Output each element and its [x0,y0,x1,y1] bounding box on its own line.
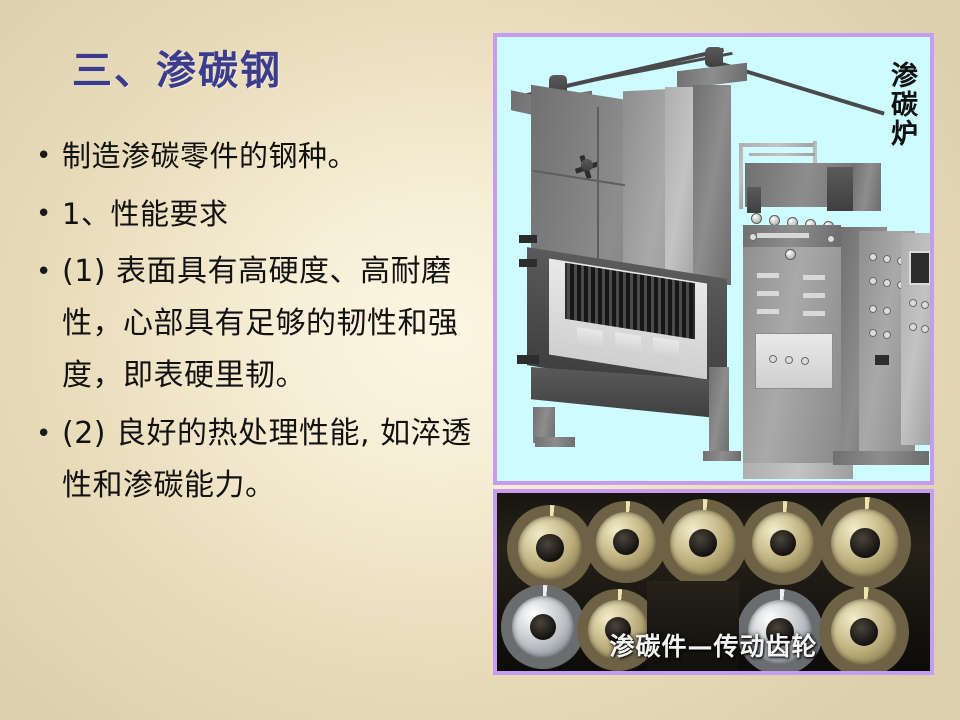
list-item-text: (2) 良好的热处理性能, 如淬透性和渗碳能力。 [62,408,486,512]
list-item-text: 1、性能要求 [62,188,486,240]
bullet-marker-icon: • [36,130,62,182]
bullet-list: • 制造渗碳零件的钢种。 • 1、性能要求 • (1) 表面具有高硬度、高耐磨性… [36,130,486,518]
list-item: • (1) 表面具有高硬度、高耐磨性，心部具有足够的韧性和强度，即表硬里韧。 [36,246,486,402]
carburized-gears-photo: 渗碳件—传动齿轮 [497,493,930,671]
furnace-figure: 渗碳炉 [493,33,934,485]
list-item-text: (1) 表面具有高硬度、高耐磨性，心部具有足够的韧性和强度，即表硬里韧。 [62,246,486,402]
gears-caption: 渗碳件—传动齿轮 [497,627,930,663]
slide-canvas: 三、渗碳钢 • 制造渗碳零件的钢种。 • 1、性能要求 • (1) 表面具有高硬… [0,0,960,720]
furnace-label: 渗碳炉 [887,61,916,148]
figure-column: 渗碳炉 [493,33,934,675]
bullet-marker-icon: • [36,188,62,240]
list-item: • 制造渗碳零件的钢种。 [36,130,486,182]
list-item-text: 制造渗碳零件的钢种。 [62,130,486,182]
gears-figure: 渗碳件—传动齿轮 [493,489,934,675]
bullet-marker-icon: • [36,408,62,460]
list-item: • 1、性能要求 [36,188,486,240]
bullet-marker-icon: • [36,246,62,298]
list-item: • (2) 良好的热处理性能, 如淬透性和渗碳能力。 [36,408,486,512]
page-title: 三、渗碳钢 [72,38,282,96]
carburizing-furnace-photo: 渗碳炉 [497,37,930,481]
